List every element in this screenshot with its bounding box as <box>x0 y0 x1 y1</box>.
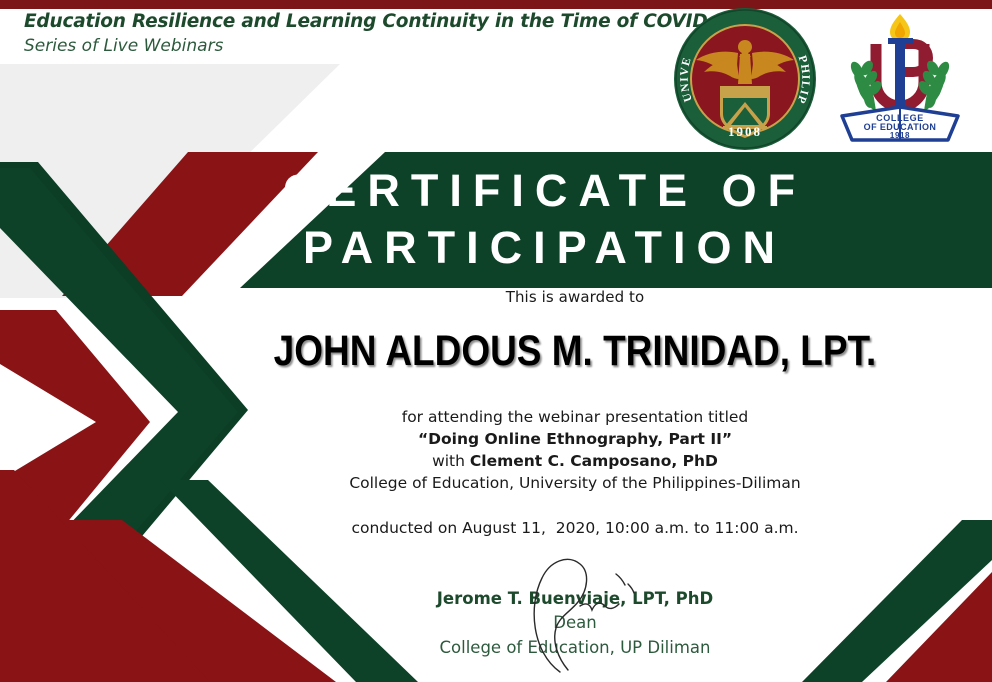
recipient-name: JOHN ALDOUS M. TRINIDAD, LPT. <box>235 327 914 376</box>
header-block: Education Resilience and Learning Contin… <box>24 10 741 57</box>
coe-seal-flame <box>890 14 910 42</box>
signatory-name: Jerome T. Buenviaje, LPT, PhD <box>180 588 970 610</box>
speaker-affiliation: College of Education, University of the … <box>180 472 970 494</box>
webinar-title: “Doing Online Ethnography, Part II” <box>418 430 732 448</box>
speaker-prefix: with <box>432 452 470 470</box>
speaker-name: Clement C. Camposano, PhD <box>470 452 718 470</box>
header-series-subtitle: Series of Live Webinars <box>24 35 741 57</box>
conducted-date-line: conducted on August 11, 2020, 10:00 a.m.… <box>180 519 970 537</box>
certificate-of-participation: Education Resilience and Learning Contin… <box>0 0 992 682</box>
reason-block: for attending the webinar presentation t… <box>180 406 970 494</box>
certificate-body: This is awarded to JOHN ALDOUS M. TRINID… <box>180 288 970 537</box>
header-series-title: Education Resilience and Learning Contin… <box>24 10 741 33</box>
signatory-role: Dean <box>180 612 970 634</box>
reason-prefix: for attending the webinar presentation t… <box>180 406 970 428</box>
signature-block: Jerome T. Buenviaje, LPT, PhD Dean Colle… <box>180 588 970 659</box>
up-seal-year: 1908 <box>728 124 762 139</box>
coe-seal-monogram <box>876 38 928 108</box>
university-of-the-philippines-seal: OF THE UNIVERSITY PHILIPPINES 1908 <box>672 6 818 152</box>
signatory-organization: College of Education, UP Diliman <box>180 637 970 659</box>
awarded-to-label: This is awarded to <box>180 288 970 306</box>
college-of-education-seal: COLLEGE OF EDUCATION 1918 <box>832 8 968 144</box>
coe-seal-year: 1918 <box>890 131 910 140</box>
